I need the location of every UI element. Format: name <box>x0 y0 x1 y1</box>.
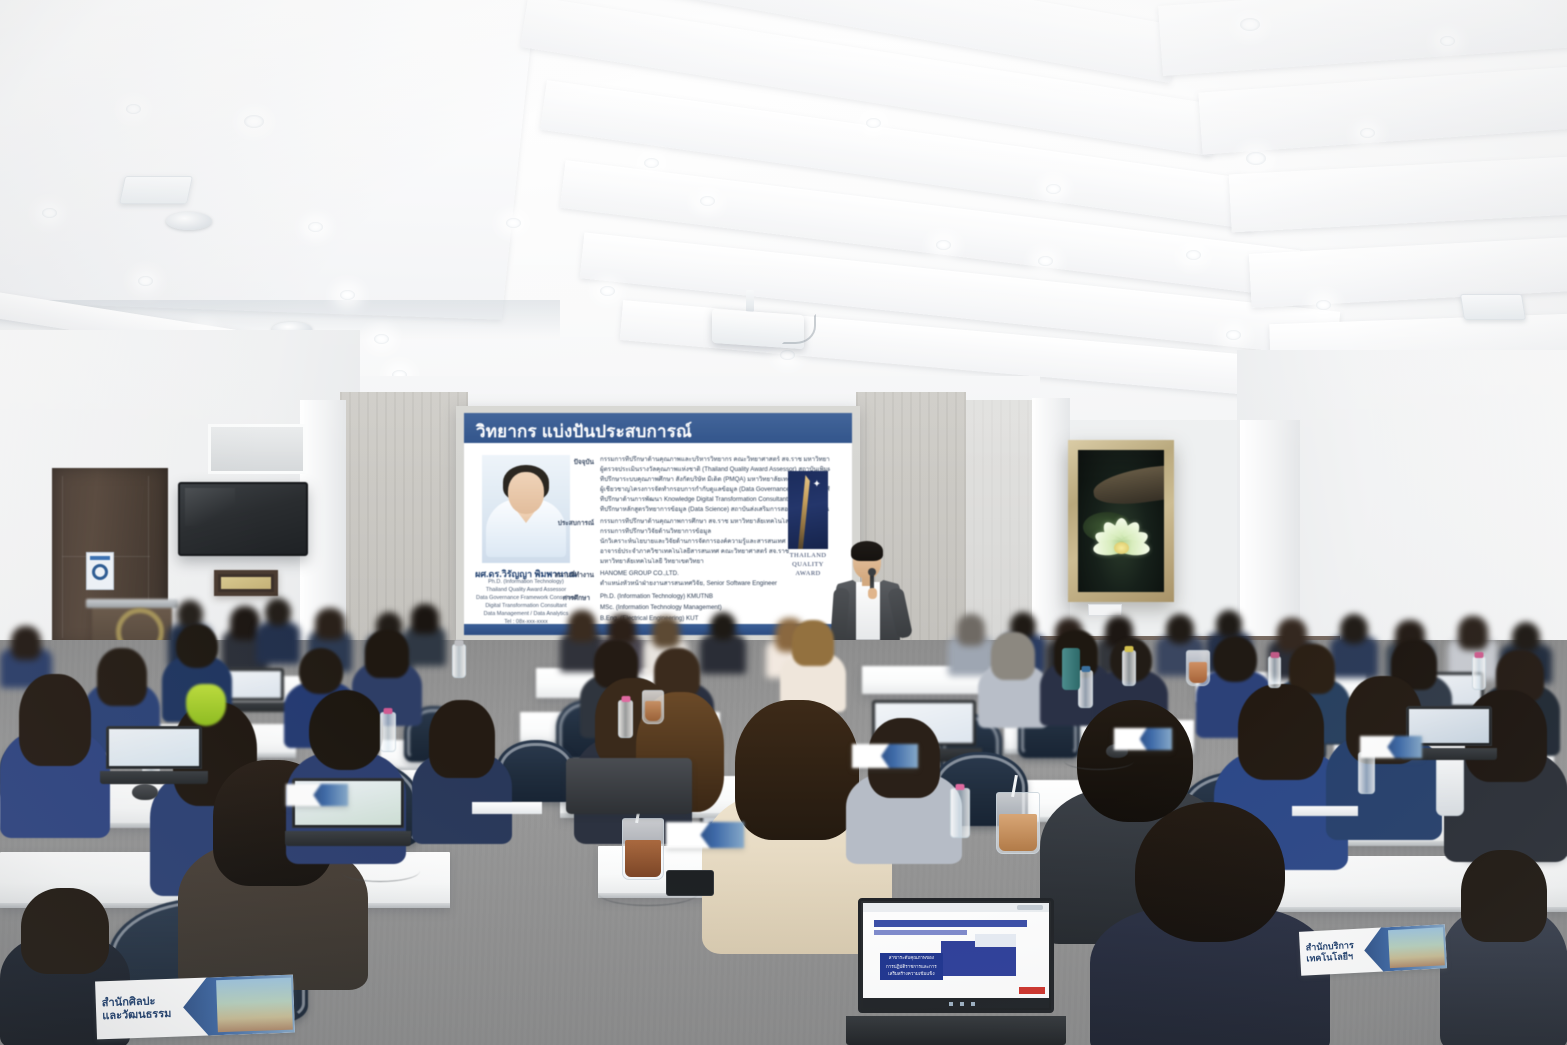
table-name-sign <box>852 744 918 768</box>
attendee <box>412 700 512 840</box>
lotus-flower <box>1088 509 1154 567</box>
speaker-credential-line: Digital Transformation Consultant <box>468 603 584 610</box>
table-name-sign <box>286 784 348 806</box>
foreground-laptop[interactable]: สาขาระดับคุณภาพของ การปฏิบัติราชการและกา… <box>858 898 1054 1045</box>
table-name-sign: สำนักศิลปะ และวัฒนธรรม <box>95 975 295 1040</box>
star-icon: ✦ <box>813 479 821 490</box>
attendee <box>1440 850 1567 1045</box>
table-name-sign: สำนักบริการ เทคโนโลยีฯ <box>1299 924 1447 976</box>
iced-drink-cup[interactable] <box>1186 650 1210 686</box>
water-bottle[interactable] <box>1358 752 1375 794</box>
attendee <box>0 674 110 834</box>
bio-section-label: ประสบการณ์ <box>532 518 594 528</box>
projection-screen: วิทยากร แบ่งปันประสบการณ์ ผศ.ดร.วิรัญญา … <box>456 406 860 642</box>
table-name-sign <box>1360 736 1422 758</box>
bio-section-label: การศึกษา <box>536 593 590 603</box>
cable <box>340 860 420 882</box>
laptop-doc-line: เสริมสร้างความเข้มแข็ง <box>882 971 942 977</box>
water-bottle[interactable] <box>1472 656 1486 690</box>
presentation-slide: วิทยากร แบ่งปันประสบการณ์ ผศ.ดร.วิรัญญา … <box>464 413 852 635</box>
projector-mount <box>746 290 754 312</box>
table-name-sign <box>1114 728 1172 750</box>
attendee <box>780 620 846 710</box>
bio-section-label: สถานที่ทำงาน <box>532 570 594 580</box>
laptop-doc-line: การปฏิบัติราชการและการ <box>882 964 942 970</box>
table-sign-text: สำนักบริการ เทคโนโลยีฯ <box>1306 940 1355 964</box>
iced-drink-cup[interactable] <box>622 818 664 880</box>
water-bottle[interactable] <box>618 700 633 738</box>
bio-line: กรรมการที่ปรึกษาด้านคุณภาพและบริหารวิทยา… <box>600 456 830 464</box>
cable <box>598 880 698 906</box>
wall-pillar <box>1032 398 1070 648</box>
slide-title: วิทยากร แบ่งปันประสบการณ์ <box>476 418 692 445</box>
speaker-portrait <box>482 455 570 563</box>
painting-label-plate <box>1088 604 1122 616</box>
wall-tv[interactable] <box>178 482 308 556</box>
water-bottle[interactable] <box>950 788 970 838</box>
cable <box>1064 752 1134 770</box>
ceiling-speaker-icon <box>166 212 212 230</box>
table-name-sign <box>666 822 744 848</box>
tumbler-cup[interactable] <box>1436 754 1464 816</box>
computer-mouse[interactable] <box>132 784 158 800</box>
wall-plaque <box>214 570 278 596</box>
water-bottle[interactable] <box>1078 670 1093 708</box>
attendee <box>1090 802 1330 1045</box>
bio-line: MSc. (Information Technology Management) <box>600 604 830 612</box>
seminar-room-photo: วิทยากร แบ่งปันประสบการณ์ ผศ.ดร.วิรัญญา … <box>0 0 1567 1045</box>
microphone-head-icon <box>868 568 876 576</box>
iced-drink-cup[interactable] <box>642 690 664 724</box>
laptop-doc-heading: สาขาระดับคุณภาพของ <box>882 955 942 961</box>
wall-vent-grille <box>208 424 306 474</box>
hair-clip <box>186 684 226 726</box>
water-bottle[interactable] <box>1122 650 1136 686</box>
attendee <box>978 632 1048 726</box>
air-vent <box>1460 294 1526 320</box>
paper-stack <box>1292 806 1358 816</box>
table-sign-text: สำนักศิลปะ และวัฒนธรรม <box>102 995 172 1023</box>
bio-line: Ph.D. (Information Technology) KMUTNB <box>600 593 830 601</box>
door-notice-sign <box>86 552 114 590</box>
water-bottle[interactable] <box>452 644 466 678</box>
paper-stack <box>472 802 542 814</box>
iced-drink-cup[interactable] <box>996 792 1040 854</box>
thermos-bottle[interactable] <box>1062 648 1080 690</box>
air-vent <box>119 176 193 204</box>
laptop-bag[interactable] <box>566 758 692 814</box>
water-bottle[interactable] <box>380 712 396 752</box>
bio-section-label: ปัจจุบัน <box>540 457 594 467</box>
painting-canvas <box>1078 450 1164 592</box>
speaker-credential-line: Ph.D. (Information Technology) <box>468 579 584 586</box>
laptop[interactable] <box>106 726 202 784</box>
attendee <box>846 718 962 858</box>
lotus-painting <box>1068 440 1174 602</box>
water-bottle[interactable] <box>1268 656 1281 688</box>
